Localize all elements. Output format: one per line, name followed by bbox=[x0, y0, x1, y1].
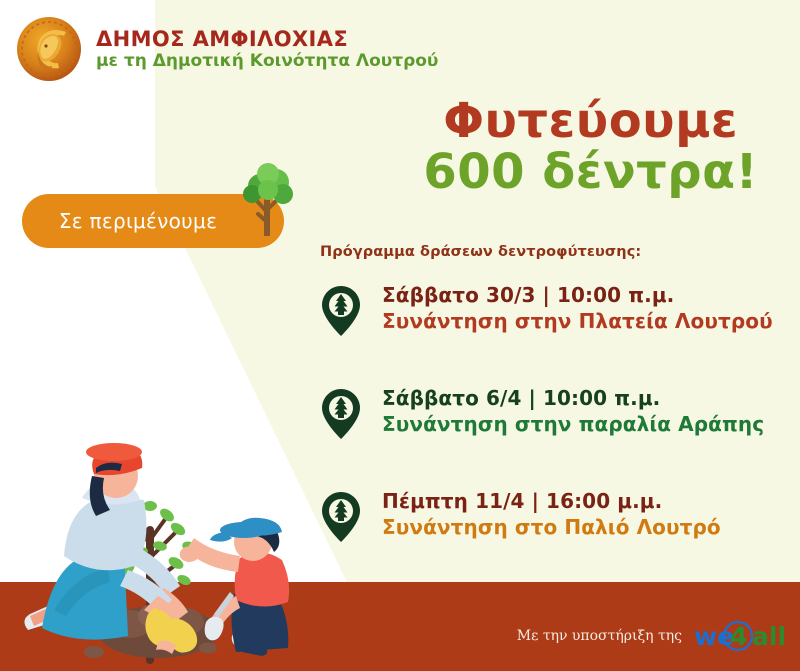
event-text: Σάββατο 30/3 | 10:00 π.μ. Συνάντηση στην… bbox=[382, 281, 773, 334]
svg-text:4: 4 bbox=[730, 622, 747, 651]
footer: Με την υποστήριξη της we 4 all bbox=[517, 619, 786, 653]
woman-figure bbox=[24, 443, 197, 654]
headline-line-2: 600 δέντρα! bbox=[423, 147, 758, 198]
event-text: Πέμπτη 11/4 | 16:00 μ.μ. Συνάντηση στο Π… bbox=[382, 487, 721, 540]
waiting-badge: Σε περιμένουμε bbox=[22, 194, 284, 248]
page-title: Φυτεύουμε 600 δέντρα! bbox=[423, 96, 758, 198]
event-item: Πέμπτη 11/4 | 16:00 μ.μ. Συνάντηση στο Π… bbox=[320, 487, 780, 543]
events-list: Σάββατο 30/3 | 10:00 π.μ. Συνάντηση στην… bbox=[320, 281, 780, 543]
event-date: Σάββατο 30/3 | 10:00 π.μ. bbox=[382, 283, 773, 309]
event-item: Σάββατο 30/3 | 10:00 π.μ. Συνάντηση στην… bbox=[320, 281, 780, 337]
organization-name: ΔΗΜΟΣ ΑΜΦΙΛΟΧΙΑΣ bbox=[96, 27, 438, 52]
event-item: Σάββατο 6/4 | 10:00 π.μ. Συνάντηση στην … bbox=[320, 384, 780, 440]
event-place: Συνάντηση στην παραλία Αράπης bbox=[382, 412, 764, 438]
badge-label: Σε περιμένουμε bbox=[22, 194, 254, 248]
map-pin-tree-icon bbox=[320, 285, 362, 337]
event-place: Συνάντηση στο Παλιό Λουτρό bbox=[382, 515, 721, 541]
map-pin-tree-icon bbox=[320, 388, 362, 440]
support-text: Με την υποστήριξη της bbox=[517, 628, 682, 644]
headline-line-1: Φυτεύουμε bbox=[423, 96, 758, 147]
header: ΔΗΜΟΣ ΑΜΦΙΛΟΧΙΑΣ με τη Δημοτική Κοινότητ… bbox=[16, 16, 438, 82]
woman-and-boy-planting-tree-illustration bbox=[8, 380, 308, 671]
event-place: Συνάντηση στην Πλατεία Λουτρού bbox=[382, 309, 773, 335]
ancient-greek-gold-coin-icon bbox=[16, 16, 82, 82]
event-date: Πέμπτη 11/4 | 16:00 μ.μ. bbox=[382, 489, 721, 515]
svg-text:all: all bbox=[752, 622, 786, 651]
event-text: Σάββατο 6/4 | 10:00 π.μ. Συνάντηση στην … bbox=[382, 384, 764, 437]
organization-subtitle: με τη Δημοτική Κοινότητα Λουτρού bbox=[96, 51, 438, 71]
program-title: Πρόγραμμα δράσεων δεντροφύτευσης: bbox=[320, 244, 641, 260]
poster-canvas: ΔΗΜΟΣ ΑΜΦΙΛΟΧΙΑΣ με τη Δημοτική Κοινότητ… bbox=[0, 0, 800, 671]
we4all-logo: we 4 all bbox=[694, 619, 786, 653]
header-text-block: ΔΗΜΟΣ ΑΜΦΙΛΟΧΙΑΣ με τη Δημοτική Κοινότητ… bbox=[96, 27, 438, 72]
map-pin-tree-icon bbox=[320, 491, 362, 543]
event-date: Σάββατο 6/4 | 10:00 π.μ. bbox=[382, 386, 764, 412]
